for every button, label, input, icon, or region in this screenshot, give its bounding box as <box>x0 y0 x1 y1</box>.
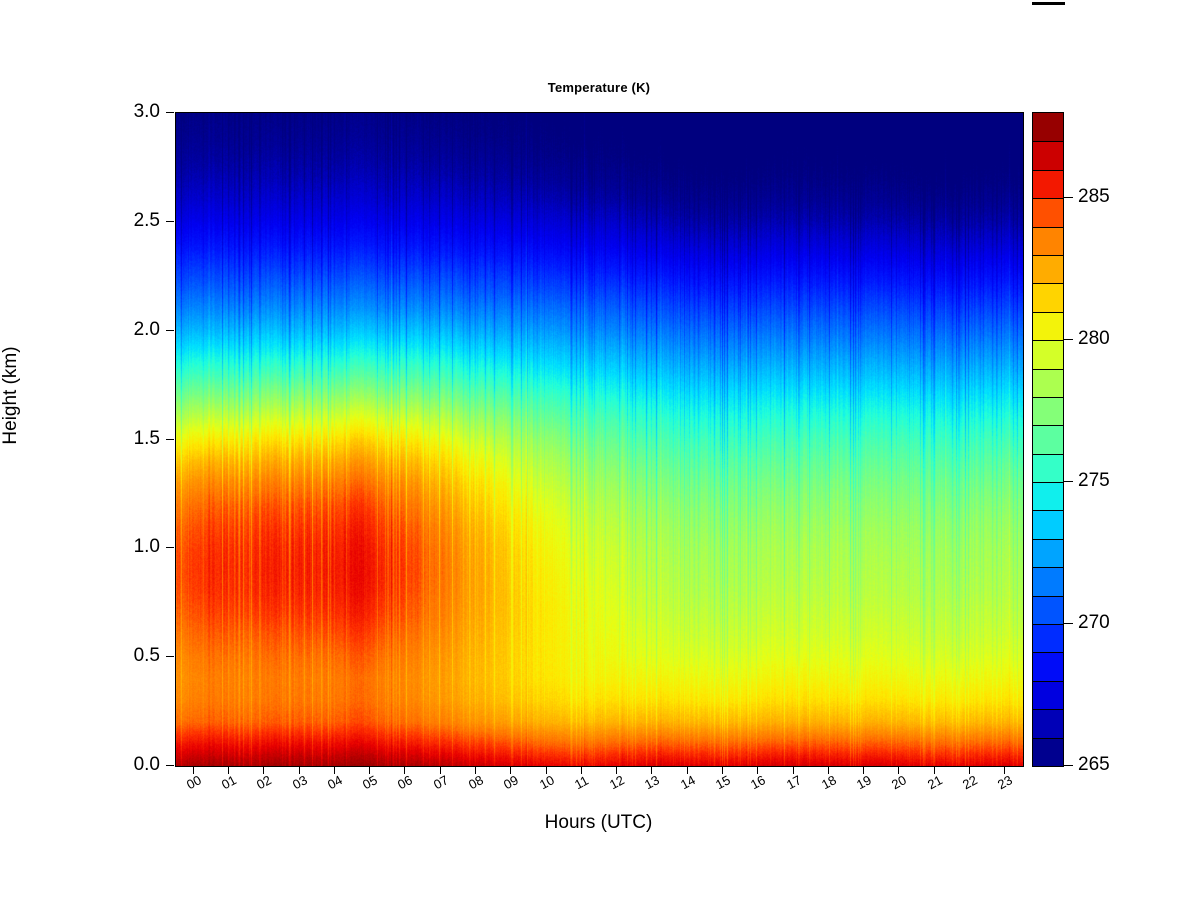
colorbar-block <box>1033 397 1063 425</box>
colorbar-tick-mark <box>1064 339 1073 340</box>
y-tick-label: 0.5 <box>105 645 160 667</box>
colorbar-block <box>1033 255 1063 283</box>
colorbar-block <box>1033 567 1063 595</box>
x-tick-label: 03 <box>290 772 310 792</box>
x-axis-title: Hours (UTC) <box>175 812 1022 834</box>
colorbar-tick-mark <box>1064 197 1073 198</box>
colorbar <box>1032 112 1064 767</box>
colorbar-block <box>1033 738 1063 766</box>
top-black-bar-artifact <box>1032 2 1065 5</box>
colorbar-block <box>1033 312 1063 340</box>
x-tick-label: 00 <box>184 772 204 792</box>
colorbar-tick-label: 280 <box>1078 328 1110 350</box>
heatmap-plot-area <box>175 112 1024 767</box>
colorbar-tick-mark <box>1064 481 1073 482</box>
colorbar-block <box>1033 624 1063 652</box>
y-tick-label: 3.0 <box>105 101 160 123</box>
colorbar-block <box>1033 596 1063 624</box>
x-tick-label: 23 <box>995 772 1015 792</box>
x-tick-label: 21 <box>925 772 945 792</box>
colorbar-block <box>1033 369 1063 397</box>
y-tick-label: 2.0 <box>105 319 160 341</box>
colorbar-tick-mark <box>1064 623 1073 624</box>
x-tick-label: 07 <box>431 772 451 792</box>
x-tick-label: 10 <box>537 772 557 792</box>
colorbar-tick-label: 265 <box>1078 754 1110 776</box>
colorbar-block <box>1033 454 1063 482</box>
colorbar-block <box>1033 652 1063 680</box>
colorbar-block <box>1033 198 1063 226</box>
colorbar-block <box>1033 709 1063 737</box>
colorbar-block <box>1033 510 1063 538</box>
figure-root: Temperature (K) 0.00.51.01.52.02.53.0 00… <box>0 0 1200 900</box>
y-tick-label: 2.5 <box>105 210 160 232</box>
x-tick-label: 04 <box>325 772 345 792</box>
y-tick-mark <box>166 330 174 331</box>
x-tick-label: 20 <box>889 772 909 792</box>
x-tick-label: 02 <box>254 772 274 792</box>
x-tick-label: 08 <box>466 772 486 792</box>
x-tick-label: 09 <box>501 772 521 792</box>
colorbar-block <box>1033 141 1063 169</box>
x-tick-label: 16 <box>748 772 768 792</box>
colorbar-block <box>1033 539 1063 567</box>
x-tick-label: 05 <box>360 772 380 792</box>
y-tick-mark <box>166 656 174 657</box>
heatmap-canvas <box>176 113 1023 766</box>
x-tick-label: 14 <box>678 772 698 792</box>
x-tick-label: 22 <box>960 772 980 792</box>
colorbar-block <box>1033 283 1063 311</box>
y-tick-label: 1.0 <box>105 536 160 558</box>
x-tick-label: 11 <box>572 773 591 793</box>
y-tick-label: 1.5 <box>105 428 160 450</box>
x-tick-label: 17 <box>784 772 804 792</box>
x-tick-label: 12 <box>607 772 627 792</box>
y-tick-mark <box>166 765 174 766</box>
x-tick-label: 06 <box>395 772 415 792</box>
y-tick-mark <box>166 221 174 222</box>
y-tick-mark <box>166 112 174 113</box>
colorbar-block <box>1033 681 1063 709</box>
y-tick-label: 0.0 <box>105 754 160 776</box>
page-title: Temperature (K) <box>175 80 1023 95</box>
x-tick-label: 13 <box>642 772 662 792</box>
y-tick-mark <box>166 439 174 440</box>
y-tick-mark <box>166 547 174 548</box>
colorbar-tick-label: 275 <box>1078 470 1110 492</box>
x-tick-label: 01 <box>219 772 239 792</box>
colorbar-block <box>1033 113 1063 141</box>
x-tick-label: 15 <box>713 772 733 792</box>
colorbar-block <box>1033 425 1063 453</box>
y-axis-title: Height (km) <box>0 346 22 529</box>
colorbar-tick-mark <box>1064 765 1073 766</box>
colorbar-block <box>1033 482 1063 510</box>
colorbar-tick-label: 270 <box>1078 612 1110 634</box>
colorbar-block <box>1033 340 1063 368</box>
x-tick-label: 19 <box>854 772 874 792</box>
colorbar-tick-label: 285 <box>1078 186 1110 208</box>
colorbar-block <box>1033 170 1063 198</box>
colorbar-block <box>1033 227 1063 255</box>
x-tick-label: 18 <box>819 772 839 792</box>
